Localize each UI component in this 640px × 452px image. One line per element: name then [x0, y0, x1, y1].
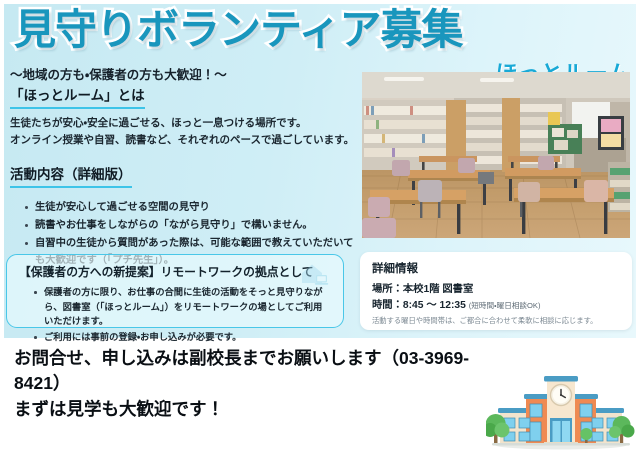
page-title: 見守りボランティア募集 [14, 4, 462, 57]
about-heading: 「ほっとルーム」とは [10, 84, 145, 109]
proposal-box: 【保護者の方への新提案】リモートワークの拠点として 保護者の方に限り、お仕事の合… [6, 254, 344, 328]
proposal-list: 保護者の方に限り、お仕事の合間に生徒の活動をそっと見守りながら、図書室（「ほっと… [19, 285, 331, 345]
poster-root: 見守りボランティア募集 〜地域の方も・保護者の方も大歓迎！〜 ほっとルーム 「ほ… [0, 0, 640, 452]
contact-line-2: まずは見学も大歓迎です！ [14, 397, 484, 422]
page-subtitle: 〜地域の方も・保護者の方も大歓迎！〜 [10, 64, 227, 83]
left-content-column: 「ほっとルーム」とは 生徒たちが安心・安全に過ごせる、ほっと一息つける場所です。… [10, 84, 355, 270]
about-line-1: 生徒たちが安心・安全に過ごせる、ほっと一息つける場所です。 [10, 115, 355, 132]
info-time-label: 時間： [372, 300, 403, 311]
details-info-box: 詳細情報 場所：本校1階 図書室 時間：8:45 〜 12:35 (短時間・曜日… [360, 252, 632, 330]
about-section: 「ほっとルーム」とは 生徒たちが安心・安全に過ごせる、ほっと一息つける場所です。… [10, 84, 355, 149]
info-time-note: (短時間・曜日相談OK) [469, 301, 541, 310]
library-photo [362, 72, 630, 238]
school-building-illustration [486, 372, 636, 450]
info-place-row: 場所：本校1階 図書室 [372, 282, 620, 298]
about-line-2: オンライン授業や自習、読書など、それぞれのペースで過ごしています。 [10, 132, 355, 149]
list-item: 読書やお仕事をしながらの「ながら見守り」で構いません。 [25, 217, 355, 234]
proposal-heading: 【保護者の方への新提案】リモートワークの拠点として [19, 263, 331, 280]
activities-heading: 活動内容（詳細版） [10, 163, 132, 188]
list-item: 保護者の方に限り、お仕事の合間に生徒の活動をそっと見守りながら、図書室（「ほっと… [34, 285, 331, 329]
info-place-value: 本校1階 図書室 [403, 284, 473, 295]
info-time-value: 8:45 〜 12:35 [403, 300, 466, 311]
info-footnote: 活動する曜日や時間帯は、ご都合に合わせて柔軟に相談に応じます。 [372, 316, 620, 326]
list-item: 生徒が安心して過ごせる空間の見守り [25, 199, 355, 216]
list-item: ご利用には事前の登録・お申し込みが必要です。 [34, 330, 331, 345]
contact-block: お問合せ、申し込みは副校長までお願いします（03-3969-8421） まずは見… [14, 346, 484, 422]
info-time-row: 時間：8:45 〜 12:35 (短時間・曜日相談OK) [372, 298, 620, 314]
contact-line-1: お問合せ、申し込みは副校長までお願いします（03-3969-8421） [14, 346, 484, 397]
info-heading: 詳細情報 [372, 260, 620, 276]
info-place-label: 場所： [372, 284, 403, 295]
